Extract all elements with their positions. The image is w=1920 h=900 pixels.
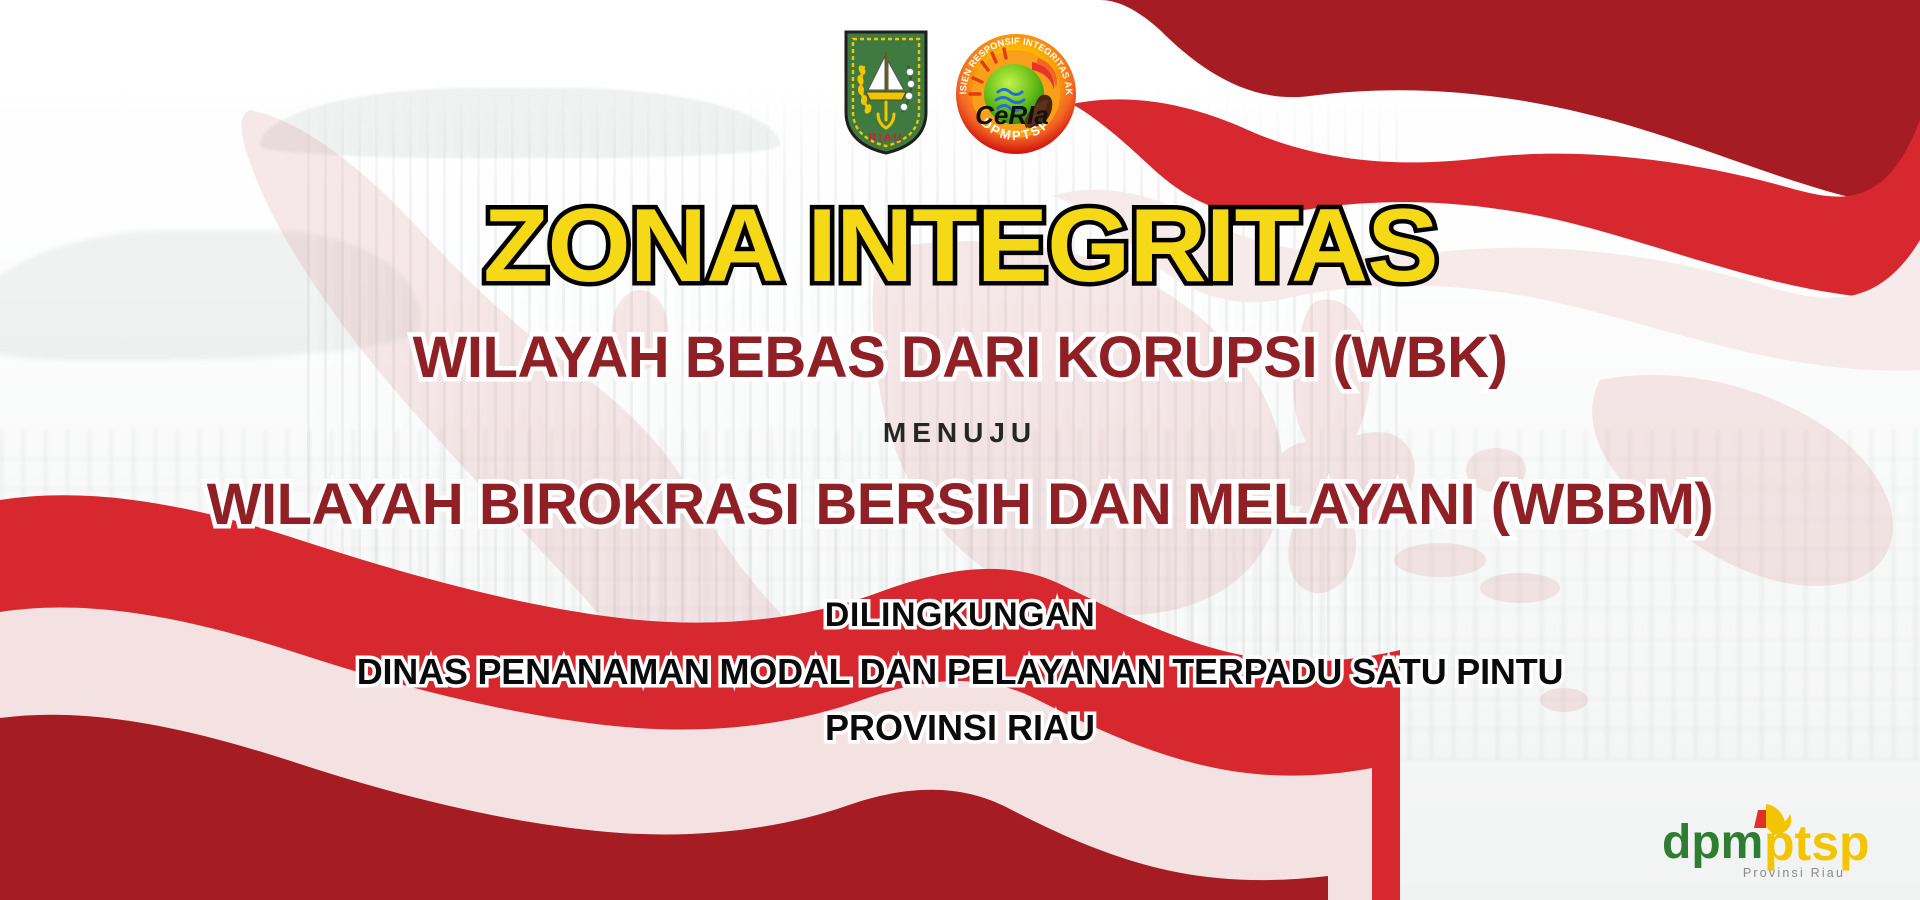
dpmptsp-tagline: Provinsi Riau bbox=[1743, 866, 1845, 880]
subtitle-wbk: WILAYAH BEBAS DARI KORUPSI (WBK) bbox=[413, 324, 1508, 391]
page-title: ZONA INTEGRITAS bbox=[483, 196, 1438, 298]
connector-label: MENUJU bbox=[883, 417, 1037, 449]
banner-text-content: ZONA INTEGRITAS WILAYAH BEBAS DARI KORUP… bbox=[0, 0, 1920, 900]
dpm-wordmark: dpm bbox=[1662, 816, 1763, 869]
organization-name: DINAS PENANAMAN MODAL DAN PELAYANAN TERP… bbox=[357, 651, 1564, 693]
ptsp-wordmark: ptsp bbox=[1764, 815, 1870, 871]
scope-label: DILINGKUNGAN bbox=[825, 596, 1095, 635]
dpmptsp-logo-icon: dpm ptsp Provinsi Riau bbox=[1654, 794, 1884, 882]
zona-integritas-banner: RIAU bbox=[0, 0, 1920, 900]
dpmptsp-logo: dpm ptsp Provinsi Riau bbox=[1654, 794, 1884, 882]
subtitle-wbbm: WILAYAH BIROKRASI BERSIH DAN MELAYANI (W… bbox=[207, 471, 1714, 538]
province-name: PROVINSI RIAU bbox=[825, 707, 1095, 749]
